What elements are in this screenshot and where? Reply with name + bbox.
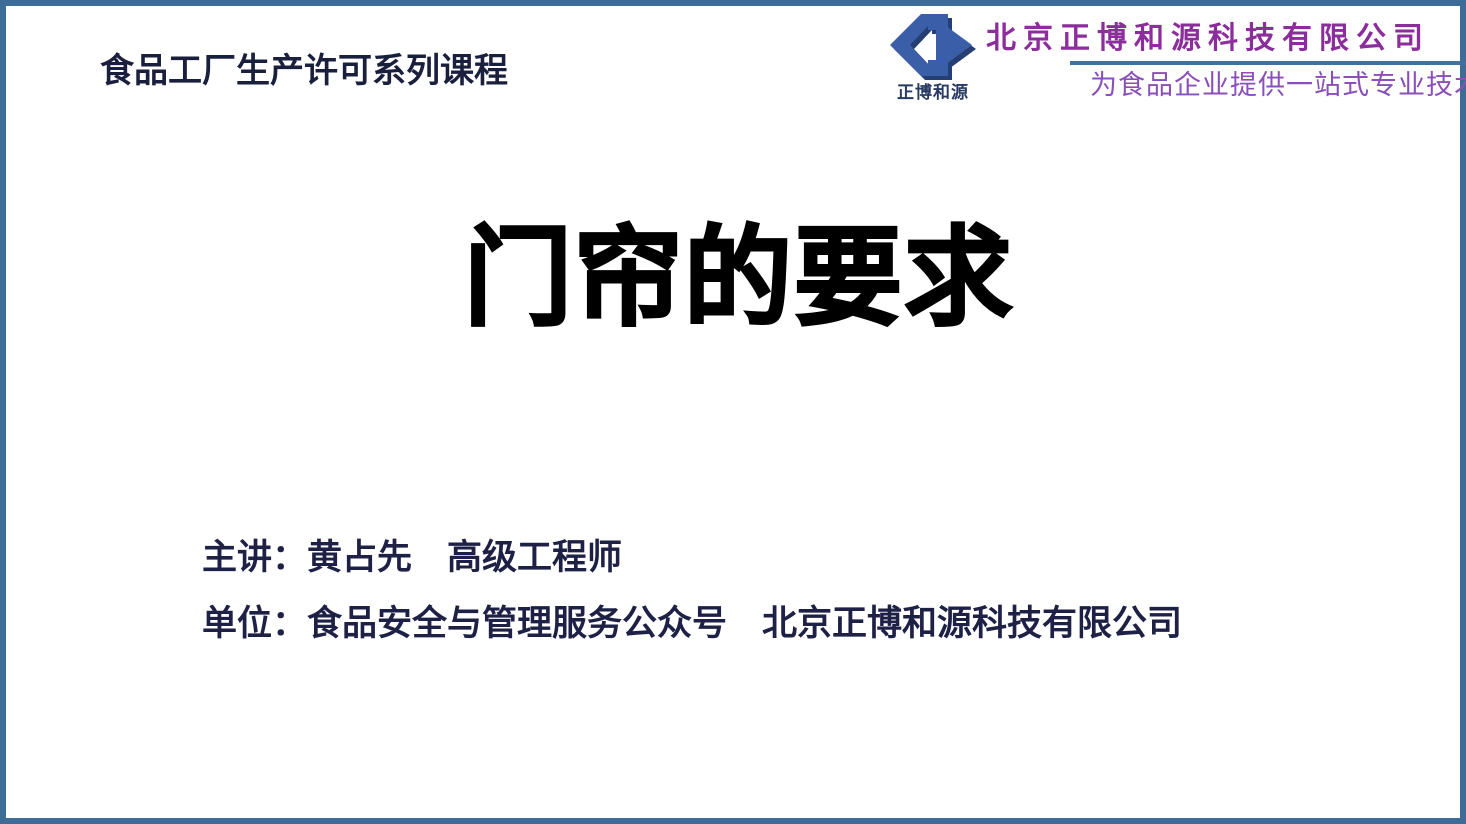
company-logo-wordmark: 正博和源 [886,84,980,101]
presenter-speaker-line: 主讲：黄占先 高级工程师 [202,540,1352,575]
slide-header: 食品工厂生产许可系列课程 [6,6,1460,124]
slide-title: 门帘的要求 [6,218,1466,339]
zhengbo-heyuan-z-arrow-logo-icon [888,12,980,82]
company-brand-text: 北京正博和源科技有限公司 为食品企业提供一站式专业技术服务 [984,8,1462,116]
presenter-organization-line: 单位：食品安全与管理服务公众号 北京正博和源科技有限公司 [202,606,1352,641]
course-series-title: 食品工厂生产许可系列课程 [100,54,508,88]
company-brand-block: 正博和源 北京正博和源科技有限公司 为食品企业提供一站式专业技术服务 [884,8,1462,116]
brand-divider [1070,61,1466,65]
presenter-info-block: 主讲：黄占先 高级工程师 单位：食品安全与管理服务公众号 北京正博和源科技有限公… [202,540,1352,641]
company-tagline: 为食品企业提供一站式专业技术服务 [1090,72,1466,99]
company-logo: 正博和源 [884,12,982,114]
company-name: 北京正博和源科技有限公司 [986,24,1430,54]
presentation-slide: 食品工厂生产许可系列课程 [0,0,1466,824]
